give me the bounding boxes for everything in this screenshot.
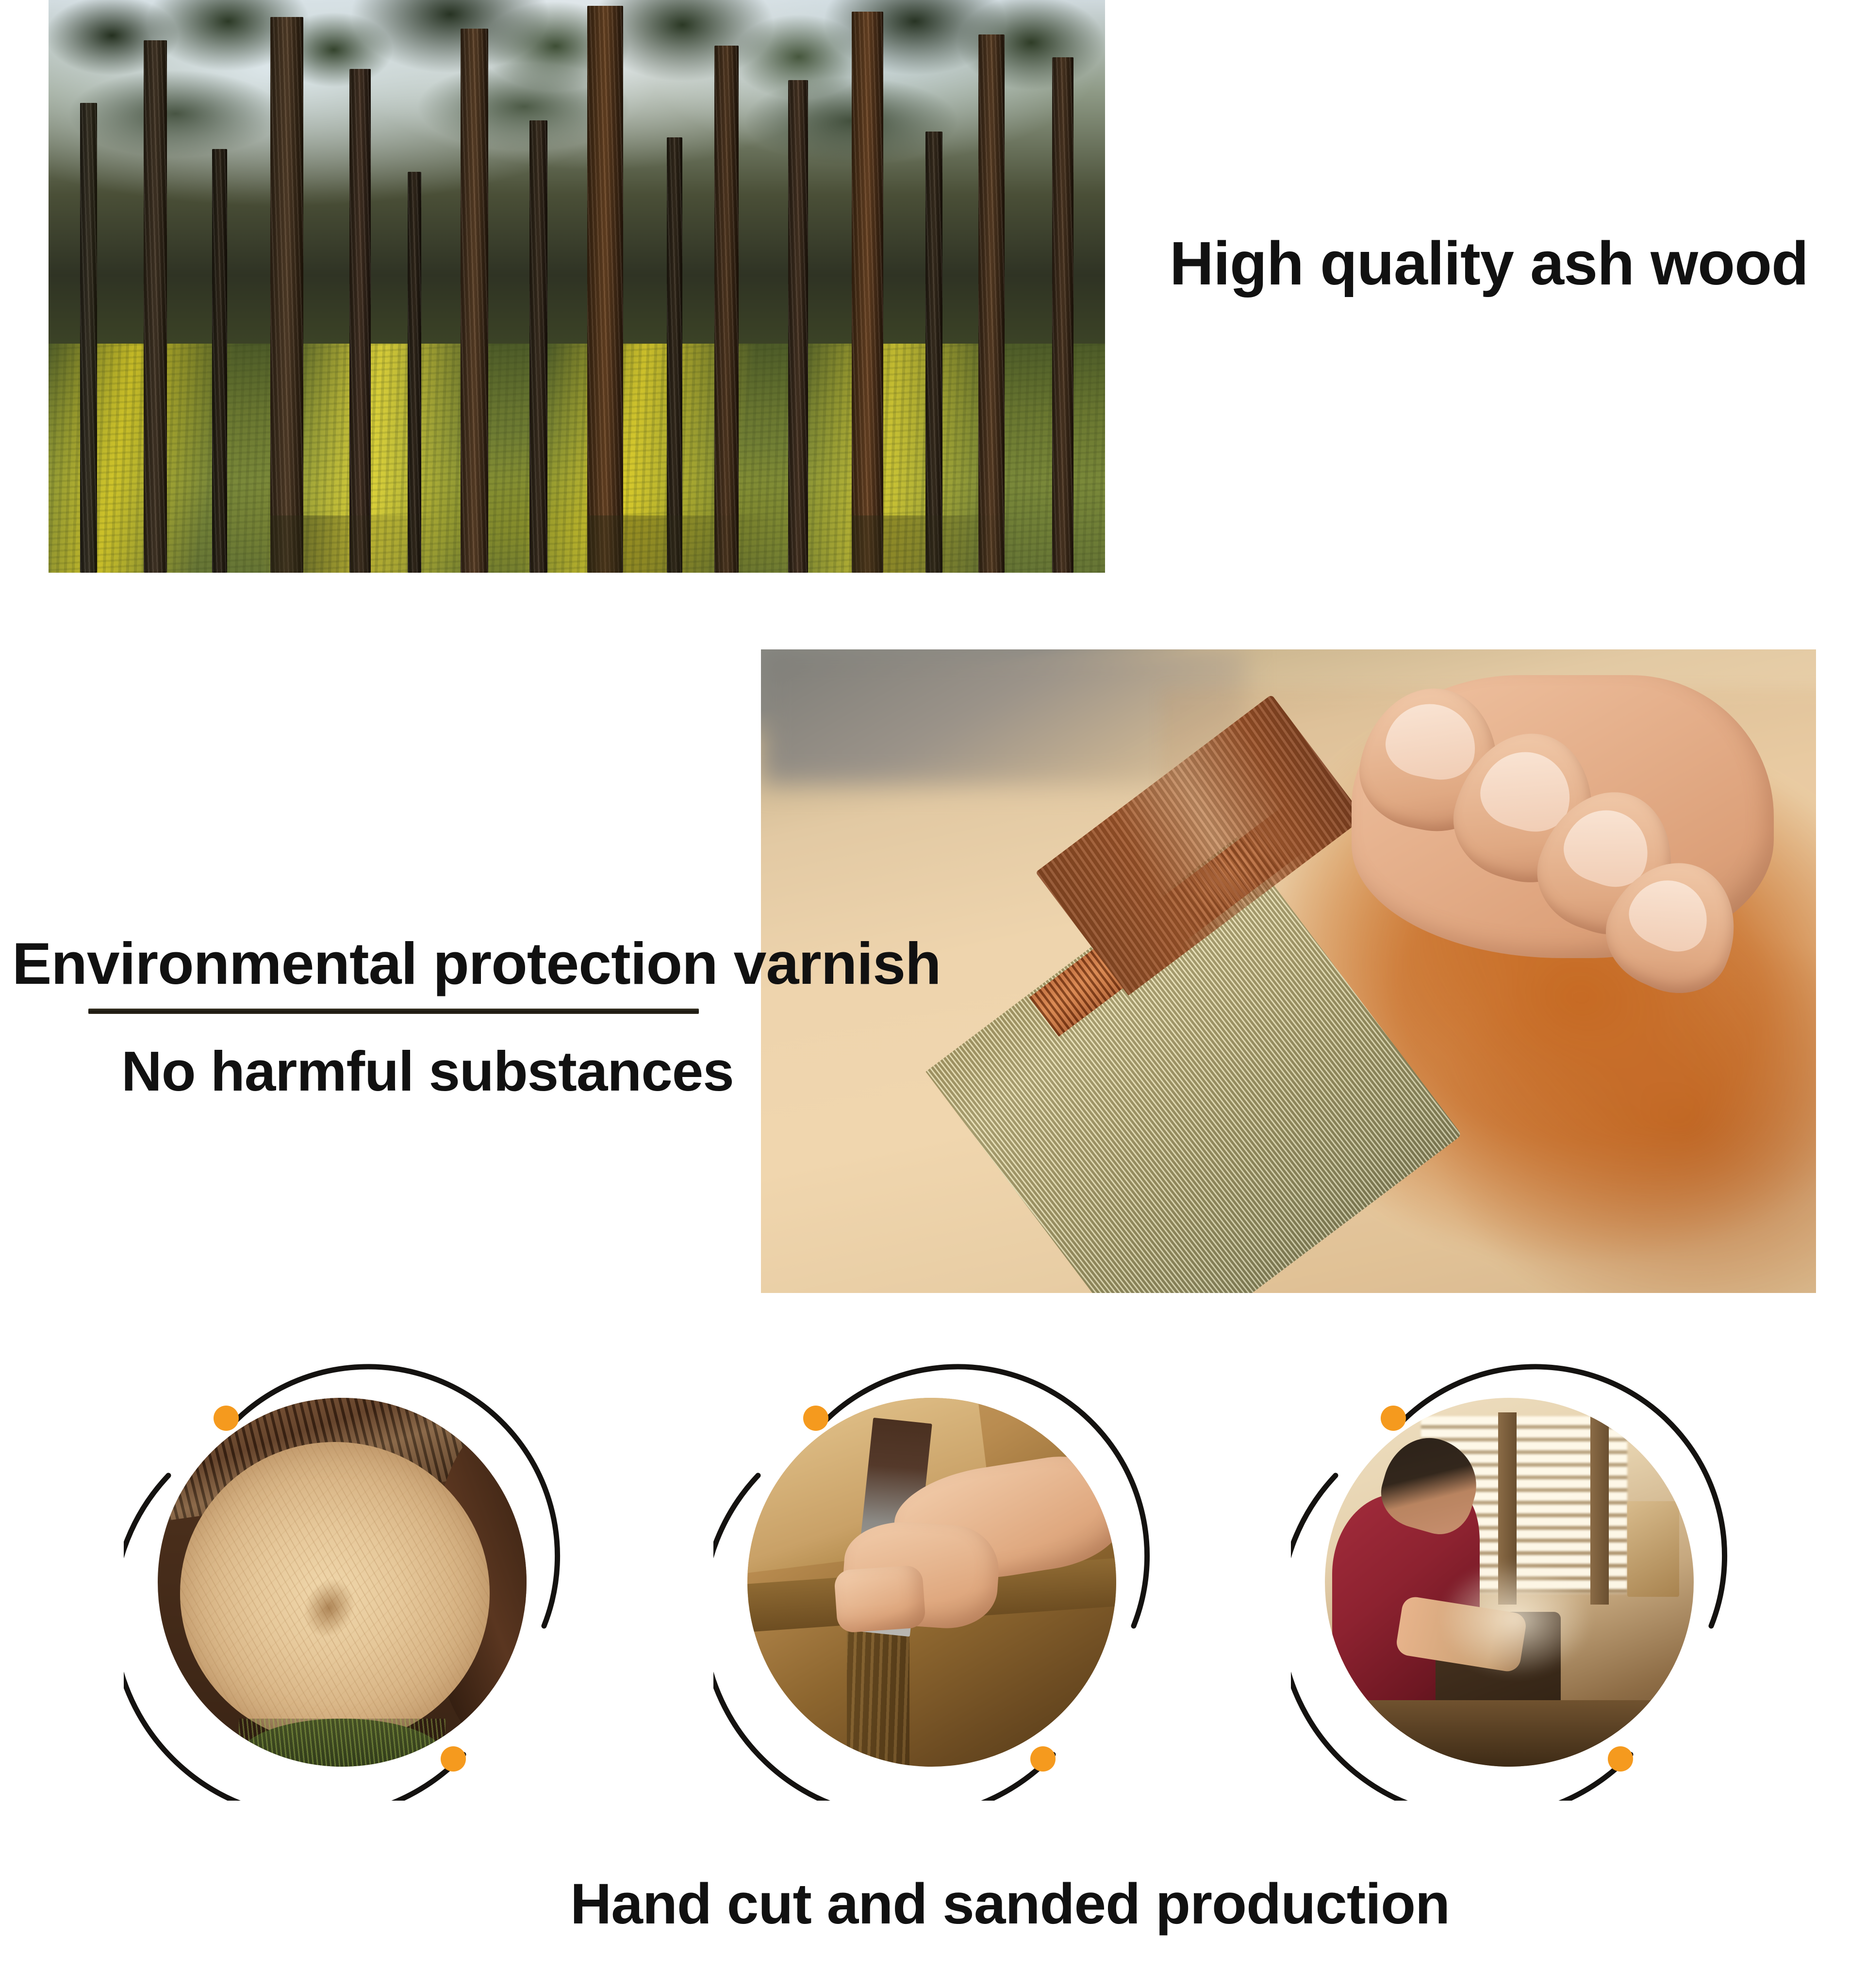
tree-trunk [80, 103, 97, 573]
forest-canopy-layer [49, 0, 1105, 355]
tree-trunk [408, 172, 421, 573]
tree-trunk [714, 46, 739, 573]
feature-circle-log [124, 1364, 561, 1801]
fingers [834, 1564, 926, 1633]
tree-trunk [461, 29, 488, 573]
tree-trunk [1052, 57, 1073, 573]
tree-trunk [587, 6, 623, 573]
forest-photo [49, 0, 1105, 573]
hand-sanding-photo [747, 1398, 1116, 1767]
divider-rule [88, 1009, 699, 1014]
log-cross-section-photo [158, 1398, 527, 1767]
trunk-shadow [852, 515, 1021, 573]
workshop-machine-photo [1325, 1398, 1694, 1767]
workbench [1325, 1700, 1694, 1767]
feature-circle-sanding [713, 1364, 1150, 1801]
tree-trunk [852, 12, 883, 573]
tree-trunk [349, 69, 371, 573]
tree-trunk [925, 132, 942, 573]
trunk-shadow [587, 515, 777, 573]
heading-hand-cut-and-sanded-production: Hand cut and sanded production [570, 1871, 1450, 1937]
trunk-shadow [270, 515, 439, 573]
tree-trunk [788, 80, 808, 573]
tree-trunk [212, 149, 227, 573]
tree-trunk [529, 120, 547, 573]
tree-trunk [144, 40, 167, 573]
heading-environmental-protection-varnish: Environmental protection varnish [12, 929, 941, 997]
heading-no-harmful-substances: No harmful substances [121, 1039, 734, 1104]
tree-trunk [667, 137, 683, 573]
wood-block [1627, 1501, 1679, 1597]
dust-haze [1436, 1553, 1613, 1700]
tree-trunk [270, 17, 303, 573]
heading-high-quality-ash-wood: High quality ash wood [1170, 228, 1808, 298]
feature-circle-workshop [1291, 1364, 1728, 1801]
grass-patch [239, 1719, 446, 1767]
tree-trunk [978, 34, 1005, 573]
